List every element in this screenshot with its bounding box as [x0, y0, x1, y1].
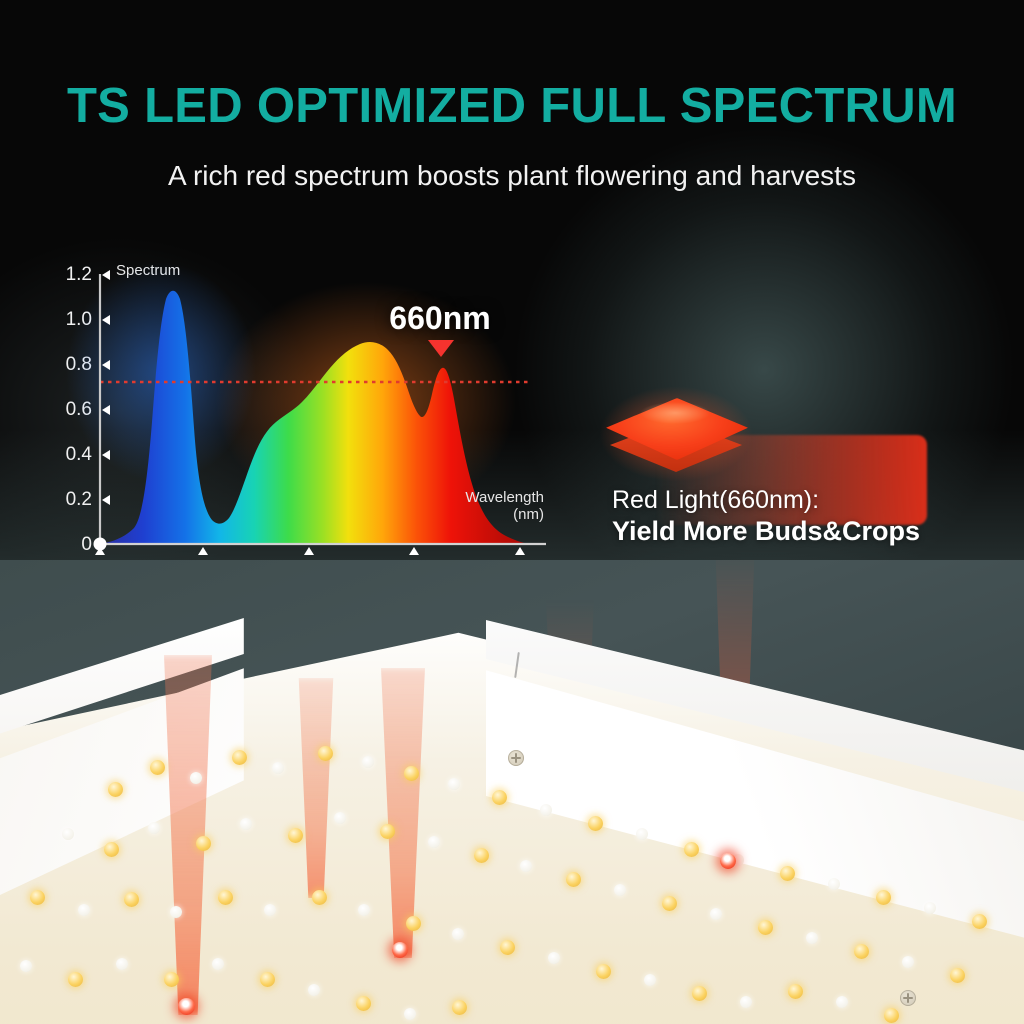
led-dot — [876, 890, 891, 905]
led-dot — [318, 746, 333, 761]
led-dot — [448, 778, 460, 790]
led-dot — [684, 842, 699, 857]
led-dot — [710, 908, 722, 920]
led-dot — [950, 968, 965, 983]
x-axis-label: Wavelength (nm) — [444, 490, 544, 524]
led-dot — [308, 984, 320, 996]
led-dot — [170, 906, 182, 918]
led-dot — [492, 790, 507, 805]
led-dot — [30, 890, 45, 905]
led-dot — [588, 816, 603, 831]
led-dot — [428, 836, 440, 848]
led-dot — [452, 1000, 467, 1015]
led-dot — [636, 828, 648, 840]
led-dot — [212, 958, 224, 970]
led-dot — [520, 860, 532, 872]
led-chip-highlight — [640, 402, 710, 424]
led-dot — [240, 818, 252, 830]
product-spectrum-infographic: TS LED OPTIMIZED FULL SPECTRUM A rich re… — [0, 0, 1024, 1024]
led-dot — [566, 872, 581, 887]
led-dot — [548, 952, 560, 964]
led-dot — [108, 782, 123, 797]
led-dot — [758, 920, 773, 935]
led-dot — [452, 928, 464, 940]
red-led-dot — [392, 942, 408, 958]
led-dot — [196, 836, 211, 851]
led-chip-icon — [596, 392, 756, 478]
led-dot — [924, 902, 936, 914]
led-dot — [884, 1008, 899, 1023]
spectrum-chart: 1.2 1.0 0.8 0.6 0.4 0.2 0 Spectrum — [46, 252, 566, 592]
led-dot — [78, 904, 90, 916]
led-dot — [272, 762, 284, 774]
led-dot — [312, 890, 327, 905]
led-dot — [644, 974, 656, 986]
led-dot — [614, 884, 626, 896]
red-led-dot — [178, 998, 195, 1015]
led-dot — [662, 896, 677, 911]
led-dot — [380, 824, 395, 839]
led-dot — [406, 916, 421, 931]
led-dot — [264, 904, 276, 916]
led-dot — [596, 964, 611, 979]
led-dot — [692, 986, 707, 1001]
led-dot — [972, 914, 987, 929]
led-dot — [780, 866, 795, 881]
led-dot — [740, 996, 752, 1008]
page-title: TS LED OPTIMIZED FULL SPECTRUM — [0, 78, 1024, 134]
led-dot — [232, 750, 247, 765]
panel-screw — [900, 990, 916, 1006]
led-dot — [806, 932, 818, 944]
led-dot — [500, 940, 515, 955]
led-board-photo — [0, 560, 1024, 1024]
panel-screw — [508, 750, 524, 766]
led-dot — [404, 766, 419, 781]
led-dot — [474, 848, 489, 863]
led-dot — [20, 960, 32, 972]
callout-line-1: Red Light(660nm): — [612, 486, 819, 515]
led-dot — [404, 1008, 416, 1020]
led-dot — [62, 828, 74, 840]
led-dot — [836, 996, 848, 1008]
led-dot — [68, 972, 83, 987]
led-dot — [190, 772, 202, 784]
led-dot — [116, 958, 128, 970]
led-dot — [164, 972, 179, 987]
led-dot — [828, 878, 840, 890]
led-dot — [362, 756, 374, 768]
led-dot — [854, 944, 869, 959]
led-dot — [288, 828, 303, 843]
led-dot — [334, 812, 346, 824]
led-dot — [104, 842, 119, 857]
led-dot — [902, 956, 914, 968]
red-led-dot — [720, 853, 736, 869]
led-dot — [148, 822, 160, 834]
led-dot — [356, 996, 371, 1011]
led-dot — [218, 890, 233, 905]
led-dot — [124, 892, 139, 907]
peak-annotation-label: 660nm — [330, 300, 550, 337]
led-dot — [358, 904, 370, 916]
led-dot — [788, 984, 803, 999]
peak-annotation-arrow-icon — [428, 340, 454, 357]
page-subtitle: A rich red spectrum boosts plant floweri… — [0, 160, 1024, 192]
led-dot — [150, 760, 165, 775]
led-dot — [260, 972, 275, 987]
led-dot — [540, 804, 552, 816]
callout-line-2: Yield More Buds&Crops — [612, 516, 920, 547]
